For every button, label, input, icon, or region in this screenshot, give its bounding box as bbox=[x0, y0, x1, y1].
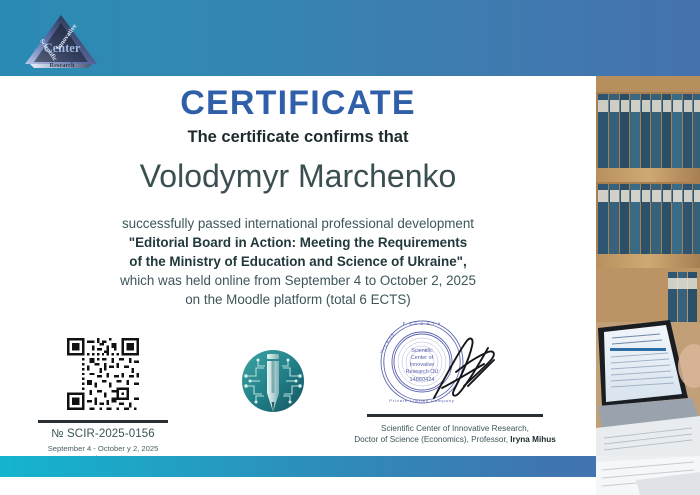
signatory-organization: Scientific Center of Innovative Research… bbox=[330, 423, 580, 434]
bottom-photo-continuation bbox=[596, 456, 700, 495]
handwritten-signature-icon bbox=[360, 316, 550, 412]
course-title-line-1: "Editorial Board in Action: Meeting the … bbox=[0, 233, 596, 252]
top-banner bbox=[0, 0, 700, 76]
signature-block: Estonia E s t o n i a Viru 8-23 Private … bbox=[330, 316, 580, 445]
body-line-2: which was held online from September 4 t… bbox=[0, 271, 596, 290]
body-line-3: on the Moodle platform (total 6 ECTS) bbox=[0, 290, 596, 309]
certificate-number: № SCIR-2025-0156 bbox=[28, 428, 178, 440]
certificate-body: successfully passed international profes… bbox=[0, 214, 596, 309]
signatory-person: Doctor of Science (Economics), Professor… bbox=[330, 434, 580, 445]
recipient-name: Volodymyr Marchenko bbox=[0, 158, 596, 195]
logo-triangle-icon: Center Research Innovative Scientific bbox=[22, 12, 100, 70]
program-emblem bbox=[238, 346, 308, 416]
organization-logo: Center Research Innovative Scientific bbox=[22, 12, 100, 70]
body-line-1: successfully passed international profes… bbox=[0, 214, 596, 233]
library-bookshelf-laptop-photo-icon bbox=[596, 76, 700, 456]
certificate-page: Center Research Innovative Scientific bbox=[0, 0, 700, 495]
signature-divider bbox=[367, 414, 543, 417]
signatory-name: Iryna Mihus bbox=[510, 435, 556, 444]
certificate-subtitle: The certificate confirms that bbox=[0, 128, 596, 147]
qr-code-icon[interactable] bbox=[67, 338, 139, 410]
library-photo bbox=[596, 76, 700, 456]
page-title: CERTIFICATE bbox=[0, 84, 596, 123]
signatory-title: Doctor of Science (Economics), Professor… bbox=[354, 435, 510, 444]
certificate-content: CERTIFICATE The certificate confirms tha… bbox=[0, 76, 596, 456]
desk-papers-photo-icon bbox=[596, 456, 700, 495]
course-title-line-2: of the Ministry of Education and Science… bbox=[0, 252, 596, 271]
pen-circuit-emblem-icon bbox=[238, 346, 308, 416]
seal-and-signature: Estonia E s t o n i a Viru 8-23 Private … bbox=[360, 316, 550, 412]
certificate-date: September 4 - October y 2, 2025 bbox=[28, 444, 178, 454]
logo-word-bottom: Research bbox=[49, 62, 75, 69]
bottom-banner bbox=[0, 456, 700, 477]
certificate-id-divider bbox=[38, 420, 168, 423]
certificate-id-block: № SCIR-2025-0156 September 4 - October y… bbox=[28, 338, 178, 464]
